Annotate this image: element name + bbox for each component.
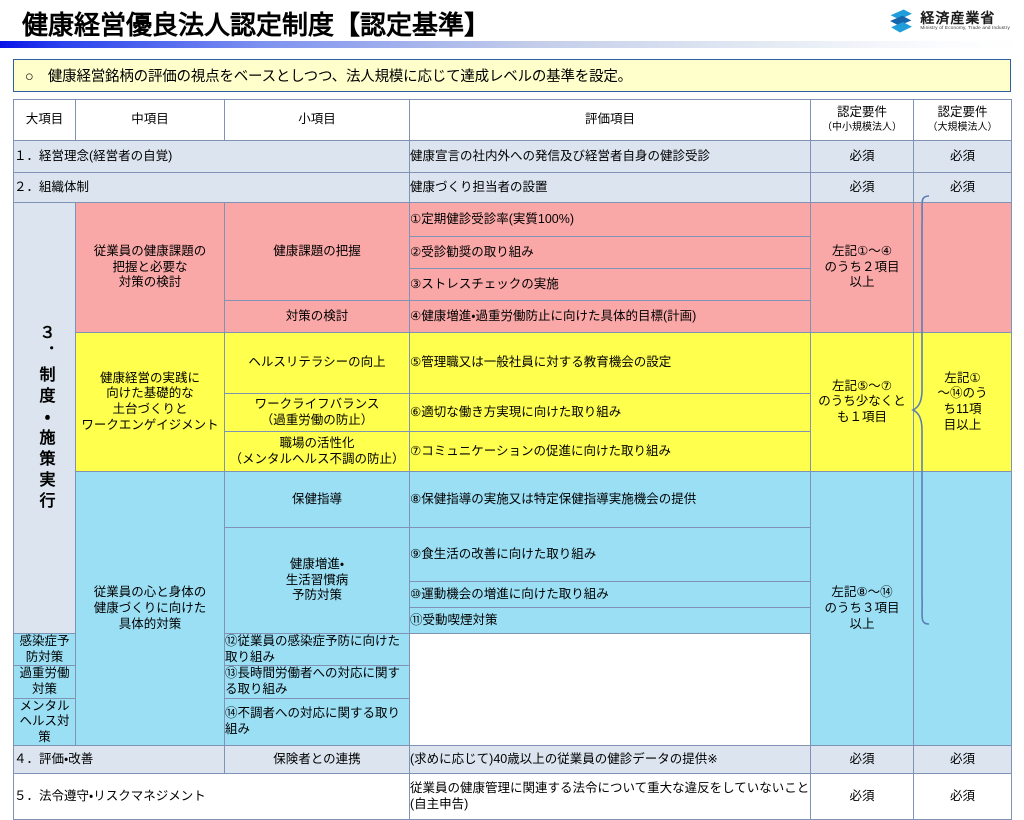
col-header-sme-sub: （中小規模法人） xyxy=(811,122,913,135)
col-header-sme-main: 認定要件 xyxy=(837,105,887,119)
meti-logo: 経済産業省 Ministry of Economy, Trade and Ind… xyxy=(888,8,1010,34)
eval-item-6: ⑥適切な働き方実現に向けた取り組み xyxy=(410,394,811,432)
col-header-minor: 小項目 xyxy=(225,100,410,141)
meti-logo-jp: 経済産業省 xyxy=(920,11,1010,26)
group2-mid-l1: 健康経営の実践に xyxy=(100,371,200,385)
eval-item-3: ③ストレスチェックの実施 xyxy=(410,269,811,301)
row4-large: 必須 xyxy=(914,746,1012,774)
row3-major-label: ３．制度・施策実行 xyxy=(37,203,53,633)
col-header-large-main: 認定要件 xyxy=(937,105,987,119)
eval-item-1: ①定期健診受診率(実質100%) xyxy=(410,203,811,237)
table-row-item1: ３．制度・施策実行 従業員の健康課題の 把握と必要な 対策の検討 健康課題の把握… xyxy=(14,203,1012,237)
group3-sub5-minor: メンタルヘルス対策 xyxy=(14,698,76,746)
group2-large-note-l3: ち11項 xyxy=(944,402,982,416)
group3-sub4-minor: 過重労働対策 xyxy=(14,666,76,698)
page-title: 健康経営優良法人認定制度【認定基準】 xyxy=(22,5,490,42)
group2-mid-l4: ワークエンゲイジメント xyxy=(81,418,218,432)
row5-title: ５．法令遵守・リスクマネジメント xyxy=(14,774,410,820)
group2-large-note-l1: 左記① xyxy=(944,371,980,385)
group2-sub3-minor-l2: （メンタルヘルス不調の防止） xyxy=(229,452,404,466)
row5-eval: 従業員の健康管理に関連する法令について重大な違反をしていないこと(自主申告) xyxy=(410,774,811,820)
group3-sme-note-l2: のうち３項目 xyxy=(824,601,899,615)
eval-item-5: ⑤管理職又は一般社員に対する教育機会の設定 xyxy=(410,333,811,394)
eval-item-11: ⑪受動喫煙対策 xyxy=(410,608,811,634)
summary-banner-text: ○ 健康経営銘柄の評価の視点をベースとしつつ、法人規模に応じて達成レベルの基準を… xyxy=(25,65,632,86)
table-row-item8: 従業員の心と身体の 健康づくりに向けた 具体的対策 保健指導 ⑧保健指導の実施又… xyxy=(14,472,1012,528)
col-header-major: 大項目 xyxy=(14,100,76,141)
summary-banner: ○ 健康経営銘柄の評価の視点をベースとしつつ、法人規模に応じて達成レベルの基準を… xyxy=(13,59,1011,92)
meti-logo-icon xyxy=(888,8,914,34)
group2-mid: 健康経営の実践に 向けた基礎的な 土台づくりと ワークエンゲイジメント xyxy=(76,333,225,472)
group3-sub2-minor: 健康増進・ 生活習慣病 予防対策 xyxy=(225,528,410,634)
row4-sme: 必須 xyxy=(811,746,914,774)
group3-sme-note-l3: 以上 xyxy=(849,617,874,631)
group2-large-note-l2: 〜⑭のう xyxy=(937,386,987,400)
group2-sub2-minor: ワークライフバランス （過重労働の防止） xyxy=(225,394,410,432)
group1-sub1-minor: 健康課題の把握 xyxy=(225,203,410,301)
col-header-large-sub: （大規模法人） xyxy=(914,122,1011,135)
group3-mid-l3: 具体的対策 xyxy=(119,617,182,631)
group2-sub1-minor: ヘルスリテラシーの向上 xyxy=(225,333,410,394)
group1-sub2-minor: 対策の検討 xyxy=(225,301,410,333)
eval-item-8: ⑧保健指導の実施又は特定保健指導実施機会の提供 xyxy=(410,472,811,528)
group1-mid-l1: 従業員の健康課題の xyxy=(94,244,207,258)
table-row-5: ５．法令遵守・リスクマネジメント 従業員の健康管理に関連する法令について重大な違… xyxy=(14,774,1012,820)
row5-large: 必須 xyxy=(914,774,1012,820)
meti-logo-text: 経済産業省 Ministry of Economy, Trade and Ind… xyxy=(920,11,1010,32)
table-row-2: ２．組織体制 健康づくり担当者の設置 必須 必須 xyxy=(14,173,1012,203)
table-row-item5: 健康経営の実践に 向けた基礎的な 土台づくりと ワークエンゲイジメント ヘルスリ… xyxy=(14,333,1012,394)
col-header-eval: 評価項目 xyxy=(410,100,811,141)
group1-large-spacer xyxy=(914,203,1012,333)
eval-item-14: ⑭不調者への対応に関する取り組み xyxy=(225,698,410,746)
group3-large-spacer xyxy=(914,472,1012,746)
row1-large: 必須 xyxy=(914,141,1012,173)
table-row-4: ４．評価・改善 保険者との連携 (求めに応じて)40歳以上の従業員の健診データの… xyxy=(14,746,1012,774)
eval-item-9: ⑨食生活の改善に向けた取り組み xyxy=(410,528,811,582)
group2-sub2-minor-l1: ワークライフバランス xyxy=(255,397,380,411)
group2-sme-note-l2: のうち少なくと xyxy=(818,394,906,408)
header-gradient-rule xyxy=(0,41,1024,48)
group2-large-note: 左記① 〜⑭のう ち11項 目以上 xyxy=(914,333,1012,472)
row4-title: ４．評価・改善 xyxy=(14,746,225,774)
table-header-row: 大項目 中項目 小項目 評価項目 認定要件 （中小規模法人） 認定要件 （大規模… xyxy=(14,100,1012,141)
group2-mid-l3: 土台づくりと xyxy=(112,402,187,416)
group1-sme-note: 左記①〜④ のうち２項目 以上 xyxy=(811,203,914,333)
group1-mid-l3: 対策の検討 xyxy=(119,275,182,289)
row2-eval: 健康づくり担当者の設置 xyxy=(410,173,811,203)
page-header: 健康経営優良法人認定制度【認定基準】 経済産業省 Ministry of Eco… xyxy=(0,0,1024,46)
group3-sme-note: 左記⑧〜⑭ のうち３項目 以上 xyxy=(811,472,914,746)
row1-eval: 健康宣言の社内外への発信及び経営者自身の健診受診 xyxy=(410,141,811,173)
table-row-1: １．経営理念(経営者の自覚) 健康宣言の社内外への発信及び経営者自身の健診受診 … xyxy=(14,141,1012,173)
group3-sub2-minor-l2: 生活習慣病 xyxy=(286,573,349,587)
group3-mid-l2: 健康づくりに向けた xyxy=(94,601,207,615)
group2-sme-note-l3: も１項目 xyxy=(837,410,887,424)
group3-sme-note-l1: 左記⑧〜⑭ xyxy=(831,585,892,599)
group3-sub1-minor: 保健指導 xyxy=(225,472,410,528)
row2-title: ２．組織体制 xyxy=(14,173,410,203)
group1-sme-note-l1: 左記①〜④ xyxy=(832,244,892,258)
group1-sme-note-l3: 以上 xyxy=(849,275,874,289)
col-header-sme: 認定要件 （中小規模法人） xyxy=(811,100,914,141)
row4-eval: (求めに応じて)40歳以上の従業員の健診データの提供※ xyxy=(410,746,811,774)
group2-sub3-minor-l1: 職場の活性化 xyxy=(279,436,354,450)
group2-large-note-l4: 目以上 xyxy=(944,418,982,432)
col-header-large: 認定要件 （大規模法人） xyxy=(914,100,1012,141)
meti-logo-en: Ministry of Economy, Trade and Industry xyxy=(920,26,1010,31)
col-header-mid: 中項目 xyxy=(76,100,225,141)
row5-sme: 必須 xyxy=(811,774,914,820)
group3-sub2-minor-l3: 予防対策 xyxy=(292,588,342,602)
group2-mid-l2: 向けた基礎的な xyxy=(106,386,194,400)
group2-sub3-minor: 職場の活性化 （メンタルヘルス不調の防止） xyxy=(225,432,410,472)
group3-mid: 従業員の心と身体の 健康づくりに向けた 具体的対策 xyxy=(76,472,225,746)
group3-sub2-minor-l1: 健康増進・ xyxy=(290,557,344,571)
group3-mid-l1: 従業員の心と身体の xyxy=(94,585,207,599)
group1-mid: 従業員の健康課題の 把握と必要な 対策の検討 xyxy=(76,203,225,333)
group1-mid-l2: 把握と必要な xyxy=(112,260,187,274)
eval-item-2: ②受診勧奨の取り組み xyxy=(410,237,811,269)
row1-sme: 必須 xyxy=(811,141,914,173)
eval-item-13: ⑬長時間労働者への対応に関する取り組み xyxy=(225,666,410,698)
criteria-table: 大項目 中項目 小項目 評価項目 認定要件 （中小規模法人） 認定要件 （大規模… xyxy=(13,99,1012,820)
eval-item-12: ⑫従業員の感染症予防に向けた取り組み xyxy=(225,634,410,666)
group3-sub3-minor: 感染症予防対策 xyxy=(14,634,76,666)
row1-title: １．経営理念(経営者の自覚) xyxy=(14,141,410,173)
group2-sme-note-l1: 左記⑤〜⑦ xyxy=(832,379,892,393)
criteria-table-wrap: 大項目 中項目 小項目 評価項目 認定要件 （中小規模法人） 認定要件 （大規模… xyxy=(13,99,1011,820)
row4-minor: 保険者との連携 xyxy=(225,746,410,774)
eval-item-10: ⑩運動機会の増進に向けた取り組み xyxy=(410,582,811,608)
row2-large: 必須 xyxy=(914,173,1012,203)
group2-sub2-minor-l2: （過重労働の防止） xyxy=(261,413,374,427)
row2-sme: 必須 xyxy=(811,173,914,203)
eval-item-7: ⑦コミュニケーションの促進に向けた取り組み xyxy=(410,432,811,472)
group1-sme-note-l2: のうち２項目 xyxy=(824,260,899,274)
row3-major-cell: ３．制度・施策実行 xyxy=(14,203,76,634)
group2-sme-note: 左記⑤〜⑦ のうち少なくと も１項目 xyxy=(811,333,914,472)
eval-item-4: ④健康増進・過重労働防止に向けた具体的目標(計画) xyxy=(410,301,811,333)
